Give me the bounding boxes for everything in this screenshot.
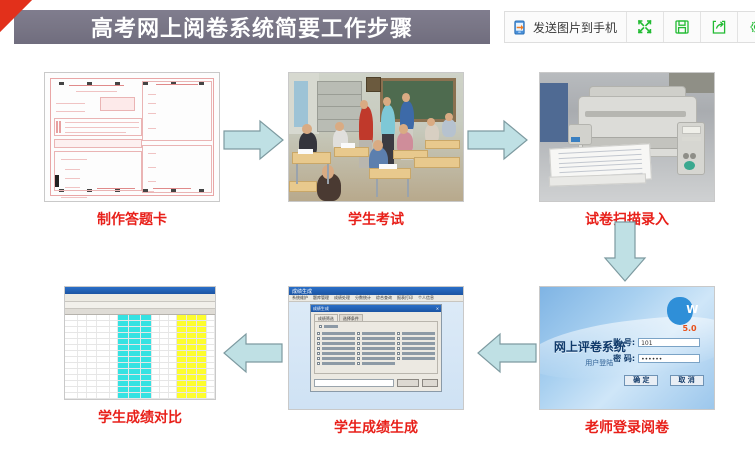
grade-table-cell (118, 387, 129, 392)
grade-table-cell (197, 333, 207, 338)
grade-table-cell (118, 357, 129, 362)
grade-table-cell (65, 351, 78, 356)
workflow-diagram: 制作答题卡 (0, 52, 755, 458)
grade-table-cell (207, 333, 215, 338)
grade-table-cell (110, 357, 118, 362)
grade-table-cell (118, 345, 129, 350)
grade-table-cell (78, 369, 88, 374)
grade-table-cell (141, 345, 152, 350)
grade-table-cell (78, 345, 88, 350)
grade-table-cell (129, 345, 140, 350)
grade-table-cell (160, 333, 168, 338)
grade-table-cell (152, 363, 160, 368)
grade-table-cell (87, 333, 97, 338)
checkbox-all[interactable] (319, 325, 322, 328)
toolbar: 发送图片到手机 (504, 11, 755, 43)
step-3: 试卷扫描录入 (539, 72, 715, 229)
grade-table-cell (177, 375, 187, 380)
grade-table-cell (141, 339, 152, 344)
grade-table-cell (87, 381, 97, 386)
grade-table-cell (78, 381, 88, 386)
login-ok-button[interactable]: 确 定 (624, 375, 658, 386)
grade-table-cell (78, 363, 88, 368)
grade-table-cell (110, 345, 118, 350)
grade-table-cell (207, 393, 215, 398)
grade-table-cell (141, 363, 152, 368)
login-cancel-button[interactable]: 取 消 (670, 375, 704, 386)
step-2: 学生考试 (288, 72, 464, 229)
grade-table-cell (152, 327, 160, 332)
grade-table-cell (129, 387, 140, 392)
grade-table-cell (187, 393, 197, 398)
grade-table-cell (187, 339, 197, 344)
grade-table-cell (160, 369, 168, 374)
grade-table-cell (78, 375, 88, 380)
grade-table-cell (129, 327, 140, 332)
grade-table-cell (152, 315, 160, 320)
menu-item-0[interactable]: 系统维护 (292, 295, 308, 301)
grade-table-cell (160, 381, 168, 386)
grade-table-cell (177, 387, 187, 392)
grade-table-cell (169, 345, 177, 350)
grade-table-cell (207, 321, 215, 326)
checkbox-row[interactable] (357, 352, 395, 355)
grade-table-cell (187, 345, 197, 350)
grade-table-cell (141, 327, 152, 332)
grade-table-cell (118, 333, 129, 338)
grade-table-cell (160, 315, 168, 320)
grade-table-cell (87, 387, 97, 392)
grade-table-cell (177, 381, 187, 386)
checkbox-row[interactable] (357, 347, 395, 350)
grade-table-cell (65, 357, 78, 362)
grade-table-cell (169, 339, 177, 344)
step-1: 制作答题卡 (44, 72, 220, 229)
grade-table-cell (160, 393, 168, 398)
dialog-title: 成绩生成 (313, 306, 329, 312)
grade-table-cell (78, 315, 88, 320)
dialog-ok-button[interactable] (397, 379, 419, 387)
grade-table-cell (87, 327, 97, 332)
grade-table-cell (129, 351, 140, 356)
gear-icon (749, 19, 755, 35)
grade-table-cell (78, 387, 88, 392)
grade-table-cell (65, 327, 78, 332)
arrow-step3-to-step4 (600, 220, 650, 289)
classroom-exam-photo-image (288, 72, 464, 202)
step-4: W 5.0 网上评卷系统 用户登陆 账 号: 101 密 码: •••••• 确… (539, 286, 715, 437)
grade-table-cell (207, 375, 215, 380)
grade-table-cell (152, 345, 160, 350)
grade-table-cell (177, 357, 187, 362)
step-5-caption: 学生成绩生成 (288, 417, 464, 437)
grade-table-cell (129, 315, 140, 320)
grade-table-cell (152, 321, 160, 326)
grade-table-cell (97, 375, 110, 380)
grade-table-cell (177, 333, 187, 338)
grade-table-cell (207, 357, 215, 362)
grade-table-cell (169, 381, 177, 386)
grade-table-cell (97, 381, 110, 386)
grade-table-cell (141, 333, 152, 338)
grade-table-cell (177, 393, 187, 398)
login-screen-screenshot-image: W 5.0 网上评卷系统 用户登陆 账 号: 101 密 码: •••••• 确… (539, 286, 715, 410)
grade-table-cell (152, 393, 160, 398)
checkbox-row[interactable] (397, 357, 435, 360)
grade-table-cell (187, 369, 197, 374)
checkbox-row[interactable] (397, 352, 435, 355)
grade-table-cell (169, 357, 177, 362)
grade-table-cell (169, 369, 177, 374)
answer-sheet-template-image (44, 72, 220, 202)
grade-table-cell (207, 339, 215, 344)
phone-upload-icon (512, 20, 527, 35)
checkbox-row[interactable] (357, 332, 395, 335)
grade-table-cell (110, 321, 118, 326)
grade-table-cell (65, 363, 78, 368)
grade-table-cell (187, 321, 197, 326)
arrow-step4-to-step5 (476, 330, 538, 381)
menu-item-2[interactable]: 成绩处理 (334, 295, 350, 301)
grade-table-cell (197, 387, 207, 392)
grade-table-cell (197, 375, 207, 380)
checkbox-row[interactable] (317, 332, 355, 335)
grade-table-cell (169, 375, 177, 380)
grade-table-cell (207, 327, 215, 332)
grade-table-cell (141, 357, 152, 362)
dialog-checkbox-panel (314, 321, 438, 374)
checkbox-row[interactable] (317, 337, 355, 340)
grade-table-cell (97, 321, 110, 326)
settings-dialog-screenshot-image: 成绩生成 系统维护 题库管理 成绩处理 分数统计 综合查询 报表打印 个人信息 … (288, 286, 464, 410)
grade-table-cell (78, 393, 88, 398)
grade-table-cell (197, 369, 207, 374)
grade-table-cell (169, 333, 177, 338)
grade-table-cell (152, 357, 160, 362)
page-title-banner: 高考网上阅卷系统简要工作步骤 (14, 10, 490, 44)
account-input[interactable]: 101 (638, 338, 700, 347)
grade-toolbar (65, 294, 215, 302)
grade-table-cell (65, 321, 78, 326)
step-4-caption: 老师登录阅卷 (539, 417, 715, 437)
grade-table-cell (197, 351, 207, 356)
grade-table-cell (65, 375, 78, 380)
grade-table-cell (152, 351, 160, 356)
page-title: 高考网上阅卷系统简要工作步骤 (91, 11, 413, 43)
grade-table-cell (141, 369, 152, 374)
grade-table-cell (129, 393, 140, 398)
grade-table-cell (152, 333, 160, 338)
grade-table-cell (160, 339, 168, 344)
grade-table-cell (97, 369, 110, 374)
grade-table-cell (169, 351, 177, 356)
grade-table-cell (97, 363, 110, 368)
grade-table-cell (207, 369, 215, 374)
grade-table-cell (169, 393, 177, 398)
password-label: 密 码: (613, 353, 635, 364)
grade-table-cell (118, 315, 129, 320)
grade-table-cell (110, 351, 118, 356)
menu-item-1[interactable]: 题库管理 (313, 295, 329, 301)
grade-table-cell (87, 345, 97, 350)
grade-table-cell (141, 351, 152, 356)
grade-table-cell (118, 375, 129, 380)
grade-table-cell (110, 369, 118, 374)
checkbox-row[interactable] (357, 337, 395, 340)
grade-table-cell (129, 321, 140, 326)
grade-table-cell (169, 327, 177, 332)
grade-table-cell (141, 393, 152, 398)
grade-table-cell (141, 315, 152, 320)
grade-table-cell (97, 357, 110, 362)
grade-table-cell (177, 315, 187, 320)
grade-table-cell (129, 381, 140, 386)
checkbox-row[interactable] (397, 347, 435, 350)
checkbox-row[interactable] (317, 362, 355, 365)
grade-table-screenshot-image (64, 286, 216, 400)
grade-table-cell (187, 333, 197, 338)
grade-table-cell (118, 363, 129, 368)
grade-table-cell (207, 345, 215, 350)
grade-table-cell (177, 351, 187, 356)
grade-table-cell (152, 387, 160, 392)
grade-table-cell (152, 381, 160, 386)
menu-item-5[interactable]: 报表打印 (397, 295, 413, 301)
grade-table-cell (207, 381, 215, 386)
grade-table-cell (160, 345, 168, 350)
grade-table-cell (160, 363, 168, 368)
grade-table-cell (197, 393, 207, 398)
dialog-menubar: 系统维护 题库管理 成绩处理 分数统计 综合查询 报表打印 个人信息 (289, 295, 463, 302)
grade-table-cell (97, 327, 110, 332)
grade-table-cell (129, 363, 140, 368)
grade-table-cell (78, 333, 88, 338)
grade-table-cell (65, 315, 78, 320)
grade-table-cell (129, 333, 140, 338)
document-scanner-photo-image (539, 72, 715, 202)
grade-table-cell (97, 393, 110, 398)
grade-table-cell (197, 345, 207, 350)
grade-table-cell (177, 345, 187, 350)
grade-table-cell (78, 339, 88, 344)
settings-button[interactable] (738, 12, 755, 42)
grade-table-cell (160, 357, 168, 362)
grade-table-cell (118, 381, 129, 386)
grade-table-cell (110, 315, 118, 320)
grade-table-cell (78, 327, 88, 332)
step-6-caption: 学生成绩对比 (64, 407, 216, 427)
grade-table-cell (110, 387, 118, 392)
settings-dialog: 成绩生成 × 成绩筛选 选择条件 (310, 304, 442, 392)
arrow-step2-to-step3 (466, 117, 530, 168)
grade-table-cell (187, 351, 197, 356)
checkbox-row[interactable] (317, 357, 355, 360)
grade-table-cell (65, 387, 78, 392)
grade-table-cell (118, 393, 129, 398)
grade-table-cell (87, 315, 97, 320)
grade-table-cell (169, 363, 177, 368)
grade-table-cell (97, 345, 110, 350)
menu-item-4[interactable]: 综合查询 (376, 295, 392, 301)
grade-table-cell (207, 363, 215, 368)
grade-table-cell (78, 351, 88, 356)
send-to-phone-label: 发送图片到手机 (533, 19, 617, 36)
share-button[interactable] (701, 12, 738, 42)
grade-table[interactable] (65, 287, 215, 399)
arrow-step1-to-step2 (222, 117, 286, 168)
step-2-caption: 学生考试 (288, 209, 464, 229)
checkbox-row[interactable] (357, 342, 395, 345)
step-5: 成绩生成 系统维护 题库管理 成绩处理 分数统计 综合查询 报表打印 个人信息 … (288, 286, 464, 437)
grade-table-cell (160, 327, 168, 332)
grade-table-cell (110, 363, 118, 368)
grade-table-cell (110, 333, 118, 338)
password-input[interactable]: •••••• (638, 354, 700, 363)
grade-table-cell (129, 369, 140, 374)
step-6: 学生成绩对比 (64, 286, 216, 427)
dialog-cancel-button[interactable] (422, 379, 438, 387)
grade-table-cell (65, 393, 78, 398)
fullscreen-button[interactable] (627, 12, 664, 42)
share-arrow-icon (711, 19, 727, 35)
grade-table-cell (187, 315, 197, 320)
grade-table-cell (152, 339, 160, 344)
grade-table-cell (110, 375, 118, 380)
grade-table-cell (87, 393, 97, 398)
grade-table-cell (169, 321, 177, 326)
grade-table-cell (187, 375, 197, 380)
grade-table-cell (65, 381, 78, 386)
grade-table-cell (187, 381, 197, 386)
grade-table-cell (197, 327, 207, 332)
checkbox-row[interactable] (357, 357, 395, 360)
save-button[interactable] (664, 12, 701, 42)
grade-table-cell (87, 357, 97, 362)
grade-table-cell (177, 327, 187, 332)
grade-table-cell (118, 327, 129, 332)
grade-table-cell (197, 357, 207, 362)
grade-table-cell (141, 375, 152, 380)
grade-table-cell (169, 387, 177, 392)
grade-table-cell (207, 315, 215, 320)
account-label: 账 号: (613, 337, 635, 348)
grade-table-cell (177, 369, 187, 374)
grade-table-cell (87, 339, 97, 344)
grade-table-cell (65, 345, 78, 350)
grade-table-cell (129, 375, 140, 380)
grade-table-cell (97, 315, 110, 320)
grade-table-cell (141, 387, 152, 392)
grade-table-cell (141, 321, 152, 326)
login-subtitle: 用户登陆 (585, 358, 613, 368)
grade-table-cell (207, 351, 215, 356)
menu-item-3[interactable]: 分数统计 (355, 295, 371, 301)
grade-table-cell (110, 393, 118, 398)
checkbox-row[interactable] (317, 352, 355, 355)
grade-table-cell (118, 339, 129, 344)
grade-table-cell (152, 369, 160, 374)
dialog-path-input[interactable] (314, 379, 394, 387)
menu-item-6[interactable]: 个人信息 (418, 295, 434, 301)
grade-table-cell (197, 363, 207, 368)
grade-table-cell (65, 369, 78, 374)
grade-table-cell (65, 333, 78, 338)
grade-table-cell (169, 315, 177, 320)
checkbox-row[interactable] (397, 337, 435, 340)
checkbox-row[interactable] (397, 342, 435, 345)
grade-table-cell (187, 363, 197, 368)
grade-table-cell (177, 321, 187, 326)
grade-table-cell (110, 339, 118, 344)
grade-table-cell (97, 339, 110, 344)
grade-table-cell (177, 363, 187, 368)
checkbox-row[interactable] (357, 362, 395, 365)
grade-table-cell (65, 339, 78, 344)
login-logo-letter: W (686, 303, 698, 316)
dialog-window-title: 成绩生成 (289, 288, 312, 295)
checkbox-row[interactable] (397, 332, 435, 335)
grade-table-cell (87, 369, 97, 374)
dialog-close-icon[interactable]: × (436, 306, 439, 311)
checkbox-row[interactable] (317, 347, 355, 350)
grade-table-cell (87, 363, 97, 368)
account-row: 账 号: 101 (613, 337, 700, 348)
grade-window-title (65, 287, 215, 294)
grade-table-cell (87, 375, 97, 380)
grade-table-cell (110, 327, 118, 332)
grade-table-cell (97, 387, 110, 392)
grade-table-cell (197, 315, 207, 320)
grade-table-cell (118, 351, 129, 356)
grade-table-cell (97, 333, 110, 338)
grade-table-cell (129, 339, 140, 344)
step-1-caption: 制作答题卡 (44, 209, 220, 229)
grade-table-cell (160, 375, 168, 380)
grade-table-cell (87, 321, 97, 326)
expand-icon (637, 19, 653, 35)
floppy-save-icon (674, 19, 690, 35)
grade-table-cell (197, 381, 207, 386)
grade-table-cell (152, 375, 160, 380)
grade-table-cell (118, 369, 129, 374)
grade-table-cell (118, 321, 129, 326)
grade-table-cell (160, 351, 168, 356)
grade-table-cell (160, 321, 168, 326)
grade-table-cell (207, 387, 215, 392)
grade-table-cell (187, 327, 197, 332)
grade-table-cell (187, 357, 197, 362)
grade-table-cell (97, 351, 110, 356)
login-logo-badge: 5.0 (682, 324, 696, 333)
grade-table-cell (160, 387, 168, 392)
grade-table-cell (129, 357, 140, 362)
grade-table-cell (197, 339, 207, 344)
grade-table-cell (110, 381, 118, 386)
grade-table-cell (141, 381, 152, 386)
grade-filterbar (65, 302, 215, 309)
grade-table-cell (177, 339, 187, 344)
password-row: 密 码: •••••• (613, 353, 700, 364)
arrow-step5-to-step6 (222, 330, 284, 381)
checkbox-row[interactable] (317, 342, 355, 345)
grade-table-cell (87, 351, 97, 356)
grade-table-cell (197, 321, 207, 326)
send-to-phone-button[interactable]: 发送图片到手机 (505, 12, 627, 42)
grade-table-cell (78, 357, 88, 362)
grade-table-cell (187, 387, 197, 392)
grade-table-cell (78, 321, 88, 326)
header-bar: 高考网上阅卷系统简要工作步骤 品斜 发送图片到手机 (0, 0, 755, 52)
